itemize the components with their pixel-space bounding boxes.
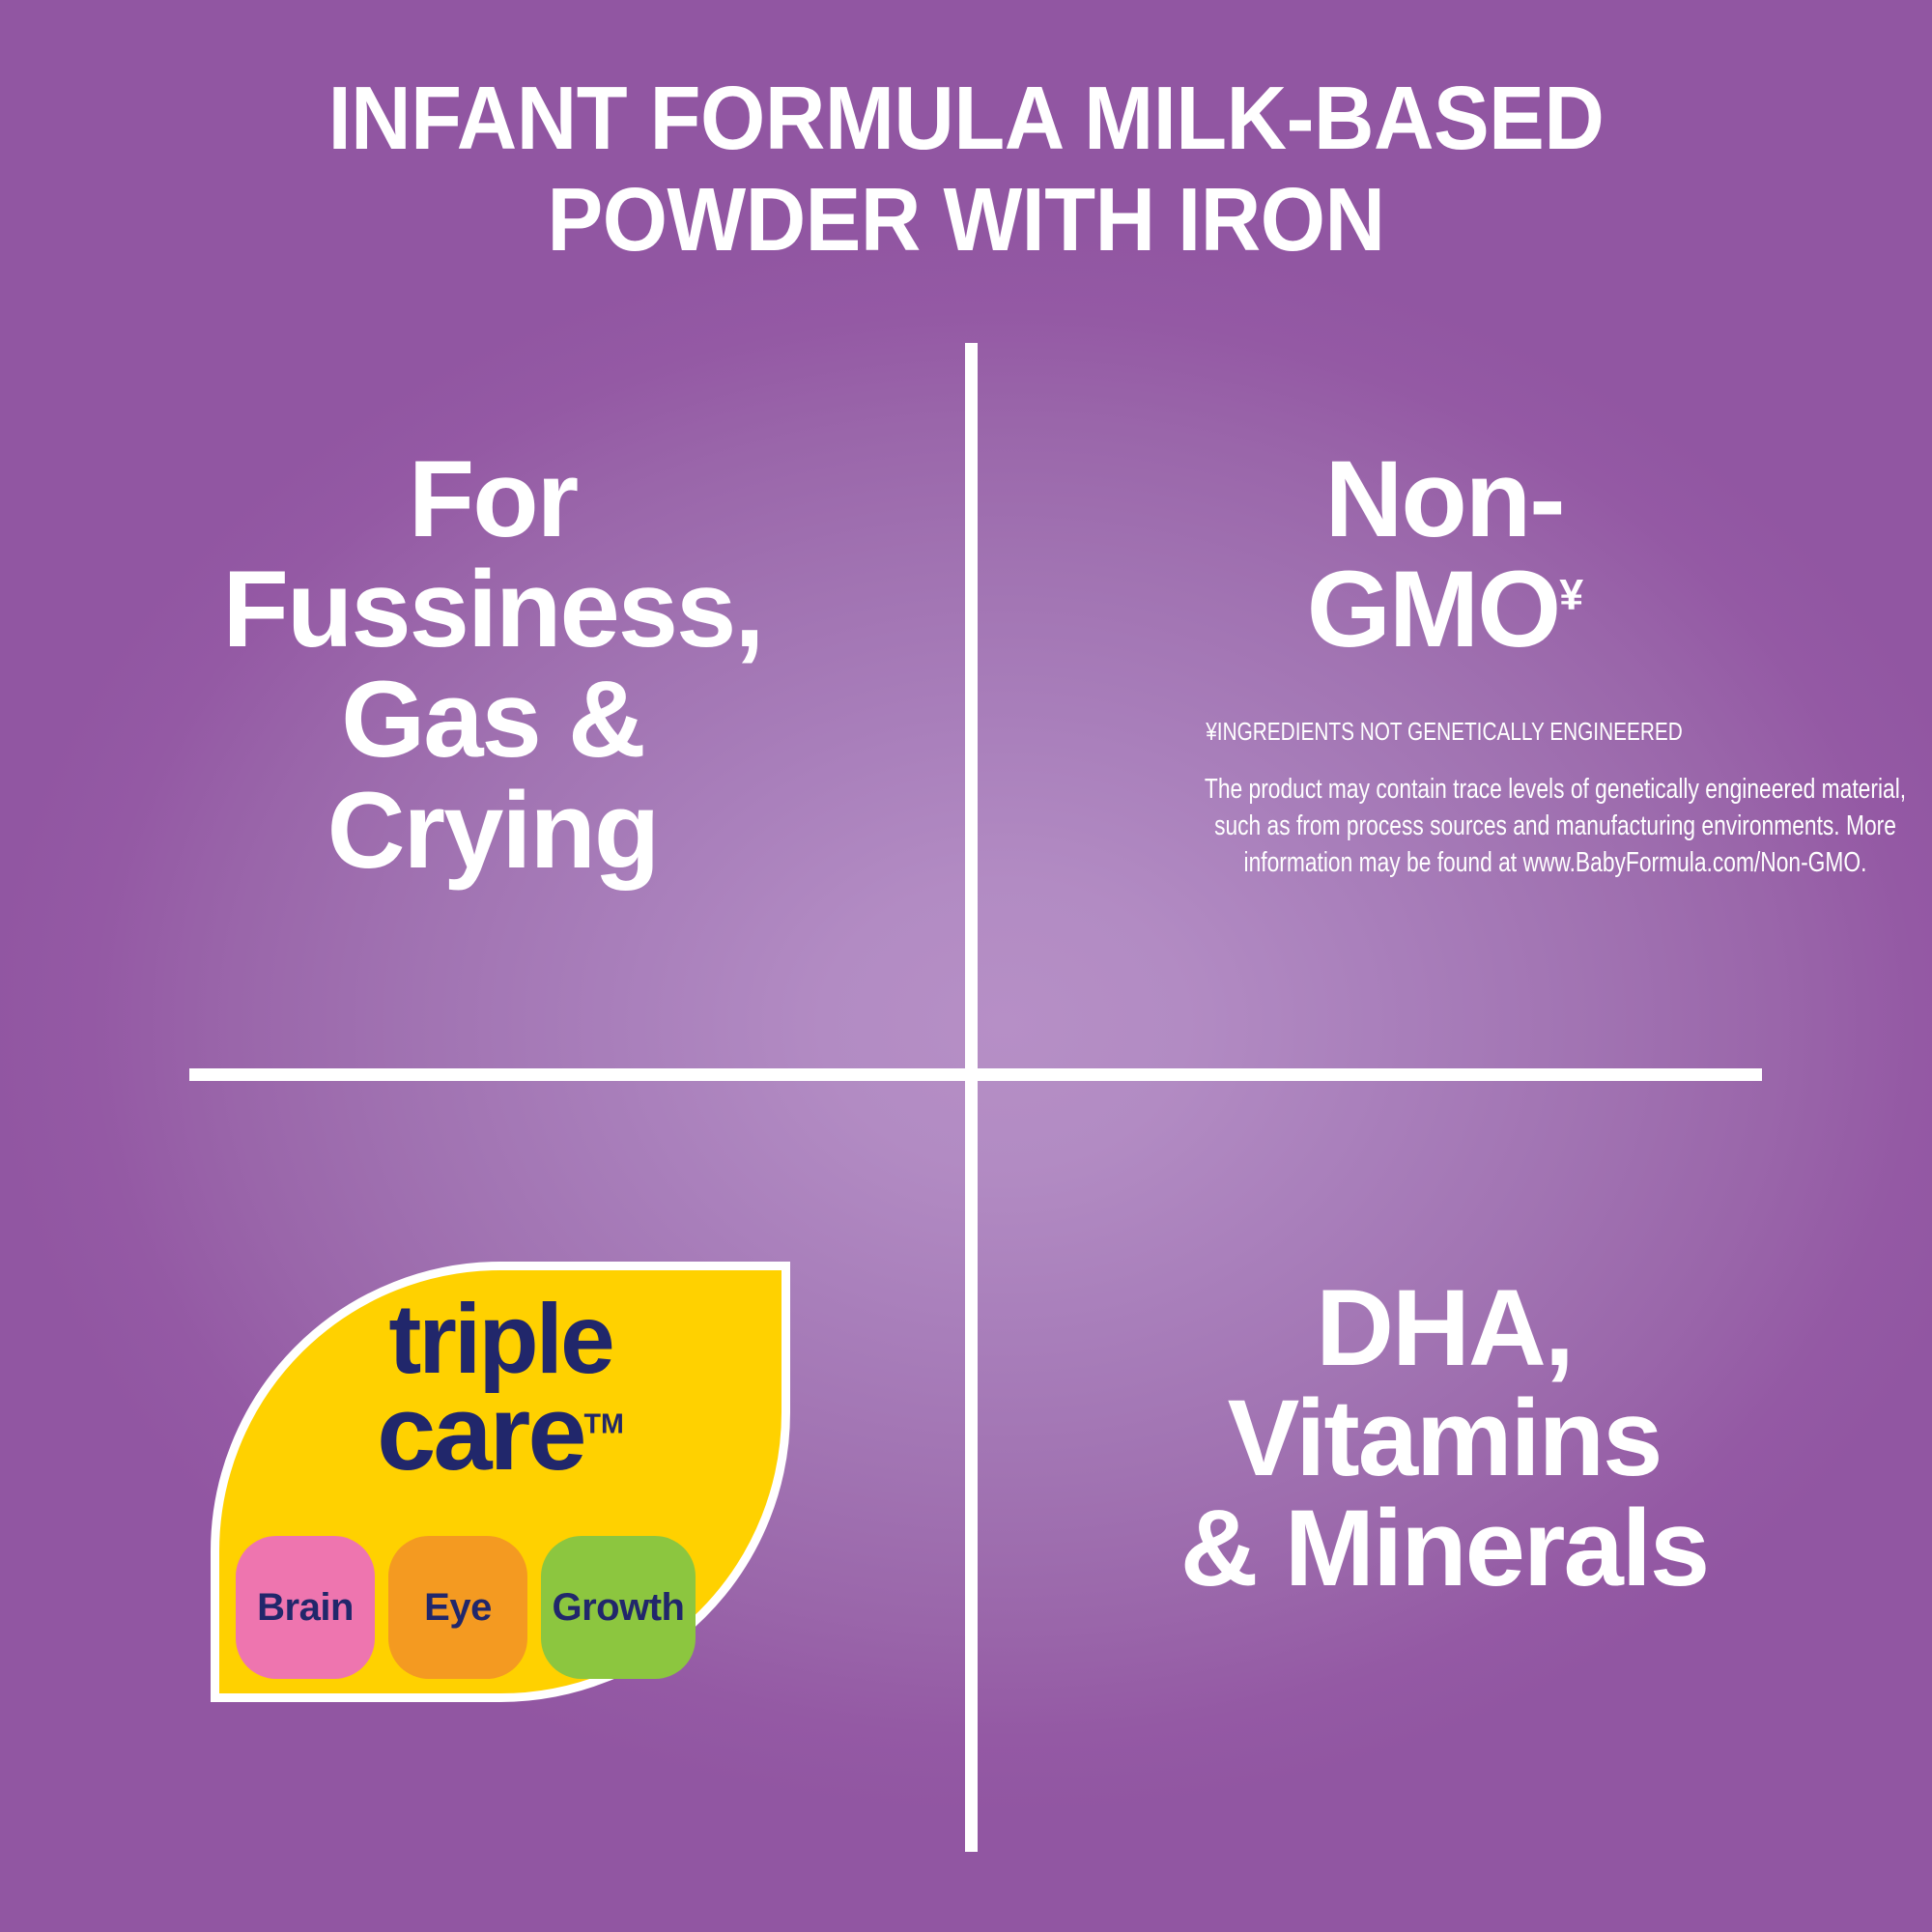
benefit-fussiness: For Fussiness, Gas & Crying [29,444,956,1024]
benefit-non-gmo: Non- GMO¥ ¥INGREDIENTS NOT GENETICALLY E… [980,444,1908,1043]
triple-care-pill-group: Brain Eye Growth [236,1536,806,1679]
benefit-non-gmo-line-1: Non- [980,444,1908,554]
non-gmo-footnote-heading: ¥INGREDIENTS NOT GENETICALLY ENGINEERED [1073,717,1815,747]
triple-care-word-care-text: care [377,1374,583,1492]
triple-care-pill-eye: Eye [388,1536,527,1679]
triple-care-pill-brain: Brain [236,1536,375,1679]
benefit-dha-line-2: Vitamins [1180,1383,1708,1493]
benefit-non-gmo-line-2-text: GMO [1307,549,1560,669]
page-title-line-2: POWDER WITH IRON [68,169,1864,270]
benefit-dha-heading: DHA, Vitamins & Minerals [1180,1273,1708,1605]
triple-care-word-triple: triple [211,1296,790,1383]
benefit-non-gmo-line-2: GMO¥ [980,554,1908,665]
triple-care-wordmark: triple careTM [211,1296,790,1481]
benefit-triple-care: triple careTM Brain Eye Growth [29,1111,956,1864]
triple-care-badge: triple careTM Brain Eye Growth [211,1262,790,1702]
non-gmo-footnote-body-line-2: such as from process sources and manufac… [1095,809,1932,845]
benefit-dha-line-1: DHA, [1180,1273,1708,1383]
triple-care-pill-growth: Growth [541,1536,696,1679]
benefit-non-gmo-heading: Non- GMO¥ [980,444,1908,665]
product-benefits-panel: INFANT FORMULA MILK-BASED POWDER WITH IR… [0,0,1932,1932]
page-title-line-1: INFANT FORMULA MILK-BASED [68,68,1864,169]
trademark-icon: TM [584,1408,624,1439]
benefit-dha-line-3: & Minerals [1180,1493,1708,1604]
benefit-fussiness-heading: For Fussiness, Gas & Crying [223,444,763,886]
page-title: INFANT FORMULA MILK-BASED POWDER WITH IR… [68,68,1864,270]
non-gmo-footnote-body-line-1: The product may contain trace levels of … [1095,772,1932,809]
benefit-fussiness-line-1: For [223,444,763,554]
footnote-marker-yen: ¥ [1559,571,1581,619]
divider-vertical [965,343,978,1852]
benefit-fussiness-line-4: Crying [223,776,763,886]
benefit-fussiness-line-3: Gas & [223,665,763,775]
divider-horizontal [189,1068,1762,1081]
non-gmo-footnote-body: The product may contain trace levels of … [1095,772,1932,882]
triple-care-word-care: careTM [211,1387,790,1481]
benefit-dha: DHA, Vitamins & Minerals [980,1111,1908,1864]
triple-care-pill-brain-label: Brain [257,1586,354,1630]
benefit-fussiness-line-2: Fussiness, [223,554,763,665]
triple-care-pill-eye-label: Eye [424,1586,492,1630]
triple-care-pill-growth-label: Growth [553,1586,685,1630]
non-gmo-footnote-body-line-3: information may be found at www.BabyForm… [1095,845,1932,882]
